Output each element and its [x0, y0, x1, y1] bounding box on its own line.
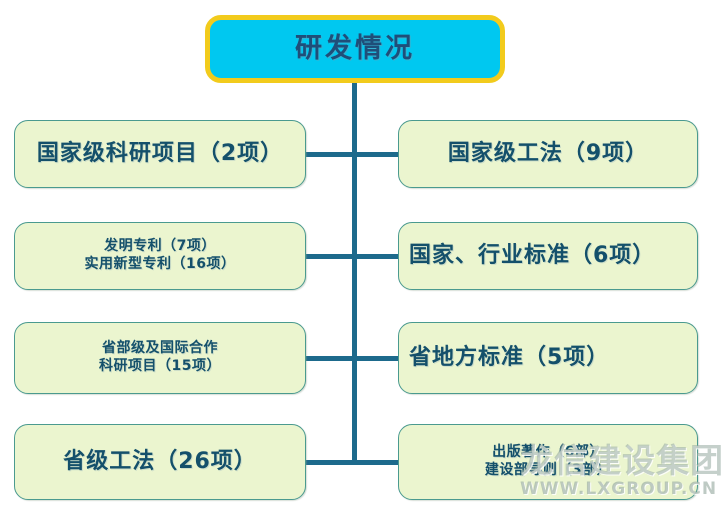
root-node-research-development[interactable]: 研发情况 [205, 15, 505, 83]
connector-branch-left-3 [306, 356, 354, 361]
root-node-label: 研发情况 [295, 33, 415, 64]
node-left-4-text: 省级工法（26项） [15, 448, 305, 476]
node-right-1-text: 国家级工法（9项） [399, 140, 697, 168]
node-left-2-line-1: 发明专利（7项） [15, 238, 305, 256]
node-right-3-text: 省地方标准（5项） [399, 344, 697, 372]
node-right-2-text: 国家、行业标准（6项） [399, 242, 697, 270]
node-left-patents[interactable]: 发明专利（7项） 实用新型专利（16项） [14, 222, 306, 290]
node-right-1-line-1: 国家级工法（9项） [399, 140, 697, 168]
node-right-provincial-local-standards[interactable]: 省地方标准（5项） [398, 322, 698, 394]
node-right-4-line-2: 建设部导则（3部） [399, 462, 697, 480]
node-left-national-research-projects[interactable]: 国家级科研项目（2项） [14, 120, 306, 188]
node-right-3-line-1: 省地方标准（5项） [409, 344, 697, 372]
connector-branch-right-1 [352, 152, 400, 157]
node-left-1-text: 国家级科研项目（2项） [15, 140, 305, 168]
node-right-published-works[interactable]: 出版著作（6部） 建设部导则（3部） [398, 424, 698, 500]
node-right-4-line-1: 出版著作（6部） [399, 444, 697, 462]
node-left-2-line-2: 实用新型专利（16项） [15, 256, 305, 274]
connector-branch-left-1 [306, 152, 354, 157]
node-right-2-line-1: 国家、行业标准（6项） [409, 242, 697, 270]
node-right-4-text: 出版著作（6部） 建设部导则（3部） [399, 444, 697, 480]
connector-branch-right-3 [352, 356, 400, 361]
node-left-provincial-international-research[interactable]: 省部级及国际合作 科研项目（15项） [14, 322, 306, 394]
node-left-4-line-1: 省级工法（26项） [15, 448, 305, 476]
node-left-2-text: 发明专利（7项） 实用新型专利（16项） [15, 238, 305, 274]
node-right-national-construction-methods[interactable]: 国家级工法（9项） [398, 120, 698, 188]
node-left-1-line-1: 国家级科研项目（2项） [15, 140, 305, 168]
node-left-3-line-2: 科研项目（15项） [15, 358, 305, 376]
connector-branch-left-2 [306, 254, 354, 259]
node-left-3-line-1: 省部级及国际合作 [15, 340, 305, 358]
connector-branch-right-2 [352, 254, 400, 259]
connector-branch-left-4 [306, 460, 354, 465]
node-left-3-text: 省部级及国际合作 科研项目（15项） [15, 340, 305, 376]
connector-trunk-vertical [352, 83, 357, 464]
node-right-national-industry-standards[interactable]: 国家、行业标准（6项） [398, 222, 698, 290]
node-left-provincial-construction-methods[interactable]: 省级工法（26项） [14, 424, 306, 500]
org-chart-diagram: 研发情况 国家级科研项目（2项） 发明专利（7项） 实用新型专利（16项） 省部… [0, 0, 724, 516]
connector-branch-right-4 [352, 460, 400, 465]
